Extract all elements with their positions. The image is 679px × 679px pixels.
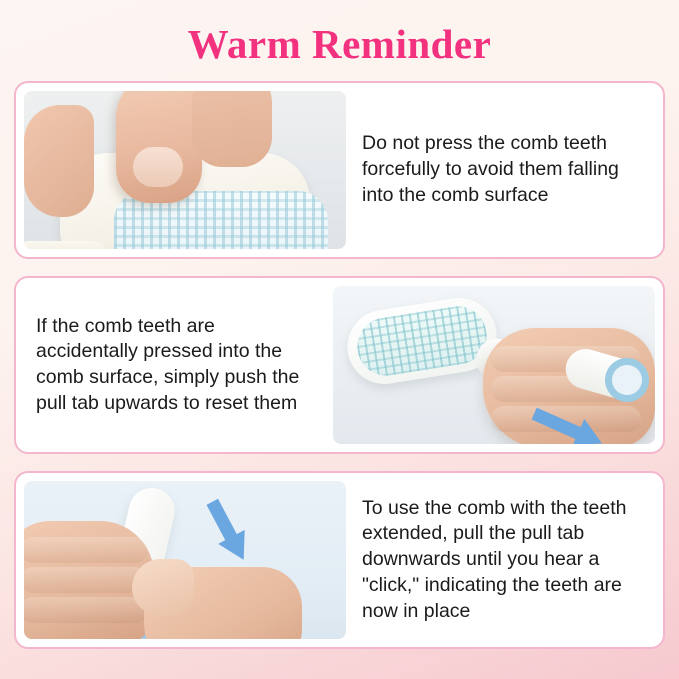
reminder-card-3: To use the comb with the teeth extended,… (14, 471, 665, 649)
finger-shape (24, 567, 148, 593)
direction-arrow-icon (199, 495, 262, 578)
page-title: Warm Reminder (0, 0, 679, 67)
reminder-card-2: If the comb teeth are accidentally press… (14, 276, 665, 454)
reminder-text-2: If the comb teeth are accidentally press… (36, 314, 319, 417)
reminder-text-container-2: If the comb teeth are accidentally press… (24, 286, 333, 444)
warm-reminder-page: Warm Reminder Do not press the comb teet… (0, 0, 679, 679)
comb-head-shape (342, 293, 502, 390)
right-thumb-shape (132, 559, 194, 615)
reminder-text-1: Do not press the comb teeth forcefully t… (362, 131, 645, 208)
finger-shape (24, 537, 148, 563)
reminder-card-1: Do not press the comb teeth forcefully t… (14, 81, 665, 259)
reminder-text-container-1: Do not press the comb teeth forcefully t… (346, 91, 655, 249)
reminder-text-container-3: To use the comb with the teeth extended,… (346, 481, 655, 639)
reminder-card-list: Do not press the comb teeth forcefully t… (0, 81, 679, 649)
comb-push-tab-photo (333, 286, 655, 444)
finger-shape (24, 597, 148, 623)
comb-pull-tab-photo (24, 481, 346, 639)
thumb-shape (24, 105, 94, 217)
index-finger-shape (116, 91, 202, 203)
comb-pressing-photo (24, 91, 346, 249)
reminder-text-3: To use the comb with the teeth extended,… (362, 496, 645, 625)
middle-finger-shape (192, 91, 272, 167)
comb-handle-shape (24, 241, 106, 249)
